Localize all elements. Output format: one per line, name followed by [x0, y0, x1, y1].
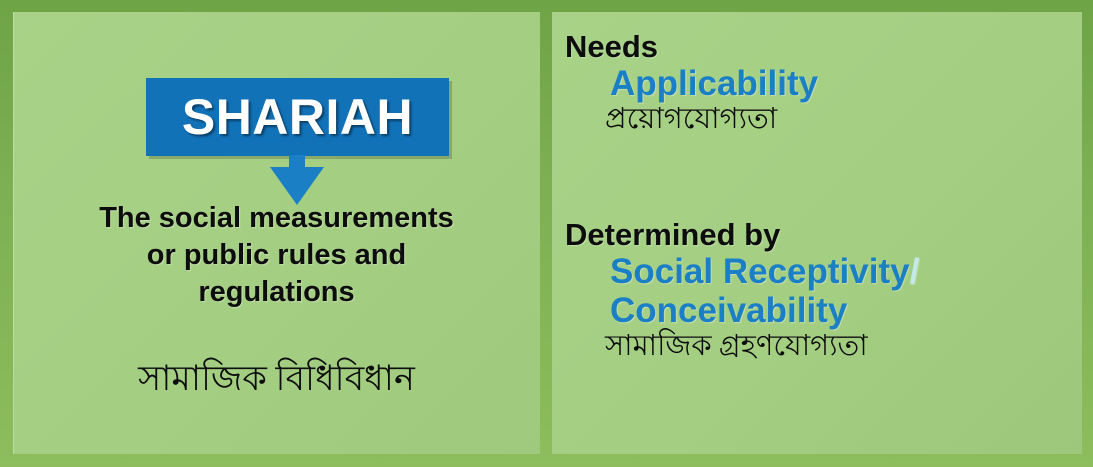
- applicability-term-text: Applicability: [610, 64, 818, 103]
- applicability-term: Applicability: [610, 64, 818, 103]
- term-separator-slash: /: [910, 252, 920, 291]
- slide-canvas: SHARIAH The social measurements or publi…: [0, 0, 1093, 467]
- shariah-definition: The social measurements or public rules …: [13, 200, 540, 311]
- shariah-definition-line-2: or public rules and: [13, 237, 540, 274]
- shariah-banner-label: SHARIAH: [182, 92, 413, 142]
- shariah-banner: SHARIAH: [146, 78, 449, 156]
- conceivability-term: Conceivability: [610, 291, 919, 330]
- needs-heading: Needs: [565, 30, 818, 64]
- needs-block: Needs Applicability প্রয়োগযোগ্যতা: [565, 30, 818, 137]
- social-receptivity-term: Social Receptivity/: [610, 252, 919, 291]
- determined-by-block: Determined by Social Receptivity/ Concei…: [565, 218, 919, 364]
- shariah-definition-line-3: regulations: [13, 274, 540, 311]
- applicability-bengali: প্রয়োগযোগ্যতা: [605, 103, 818, 136]
- conceivability-term-text: Conceivability: [610, 291, 847, 330]
- shariah-definition-bengali: সামাজিক বিধিবিধান: [13, 358, 540, 400]
- determined-by-heading: Determined by: [565, 218, 919, 252]
- shariah-definition-line-1: The social measurements: [13, 200, 540, 237]
- social-receptivity-bengali: সামাজিক গ্রহণযোগ্যতা: [605, 330, 919, 363]
- social-receptivity-term-text: Social Receptivity: [610, 252, 910, 291]
